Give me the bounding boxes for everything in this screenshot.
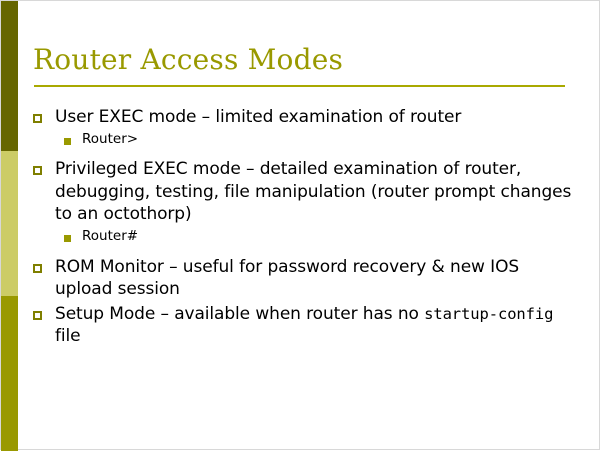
config-filename-code: startup-config xyxy=(424,305,553,323)
sub-list-item-label: Router> xyxy=(82,131,573,149)
slide-title-area: Router Access Modes xyxy=(33,45,565,95)
hollow-square-bullet-icon xyxy=(33,264,42,273)
list-item-label: User EXEC mode – limited examination of … xyxy=(55,106,573,129)
list-item: Setup Mode – available when router has n… xyxy=(33,303,573,348)
list-item: User EXEC mode – limited examination of … xyxy=(33,106,573,129)
list-item: Privileged EXEC mode – detailed examinat… xyxy=(33,158,573,226)
hollow-square-bullet-icon xyxy=(33,166,42,175)
sidebar-band-bottom xyxy=(1,296,18,451)
list-item-label: ROM Monitor – useful for password recove… xyxy=(55,256,573,301)
list-item-label-lead: Setup Mode – available when router has n… xyxy=(55,304,424,324)
list-item-label-trail: file xyxy=(55,326,81,346)
sub-list-item: Router# xyxy=(33,228,573,246)
filled-square-bullet-icon xyxy=(64,138,71,145)
hollow-square-bullet-icon xyxy=(33,114,42,123)
slide-body: User EXEC mode – limited examination of … xyxy=(33,106,573,350)
sidebar-band-top xyxy=(1,1,18,151)
sub-list-item-label: Router# xyxy=(82,228,573,246)
page-title: Router Access Modes xyxy=(33,45,565,76)
slide-sidebar-decoration xyxy=(1,1,18,451)
hollow-square-bullet-icon xyxy=(33,311,42,320)
filled-square-bullet-icon xyxy=(64,235,71,242)
list-item-label: Privileged EXEC mode – detailed examinat… xyxy=(55,158,573,226)
list-item: ROM Monitor – useful for password recove… xyxy=(33,256,573,301)
title-divider xyxy=(34,85,565,87)
presentation-slide: Router Access Modes User EXEC mode – lim… xyxy=(0,0,600,450)
list-item-label: Setup Mode – available when router has n… xyxy=(55,303,573,348)
sidebar-band-middle xyxy=(1,151,18,296)
sub-list-item: Router> xyxy=(33,131,573,149)
